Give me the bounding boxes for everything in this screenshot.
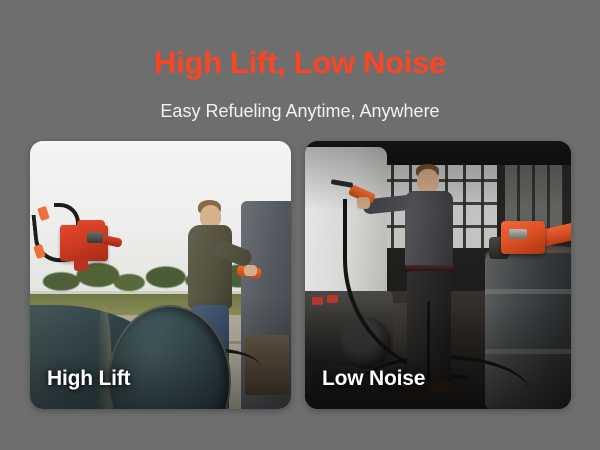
page-subtitle: Easy Refueling Anytime, Anywhere: [0, 99, 600, 123]
feature-card-high-lift[interactable]: High Lift: [30, 141, 291, 409]
promo-banner: High Lift, Low Noise Easy Refueling Anyt…: [0, 0, 600, 450]
card-label-low-noise: Low Noise: [322, 367, 425, 391]
feature-card-row: High Lift: [30, 141, 571, 409]
feature-card-low-noise[interactable]: Low Noise: [305, 141, 571, 409]
card-label-high-lift: High Lift: [47, 367, 130, 391]
page-title: High Lift, Low Noise: [0, 45, 600, 81]
